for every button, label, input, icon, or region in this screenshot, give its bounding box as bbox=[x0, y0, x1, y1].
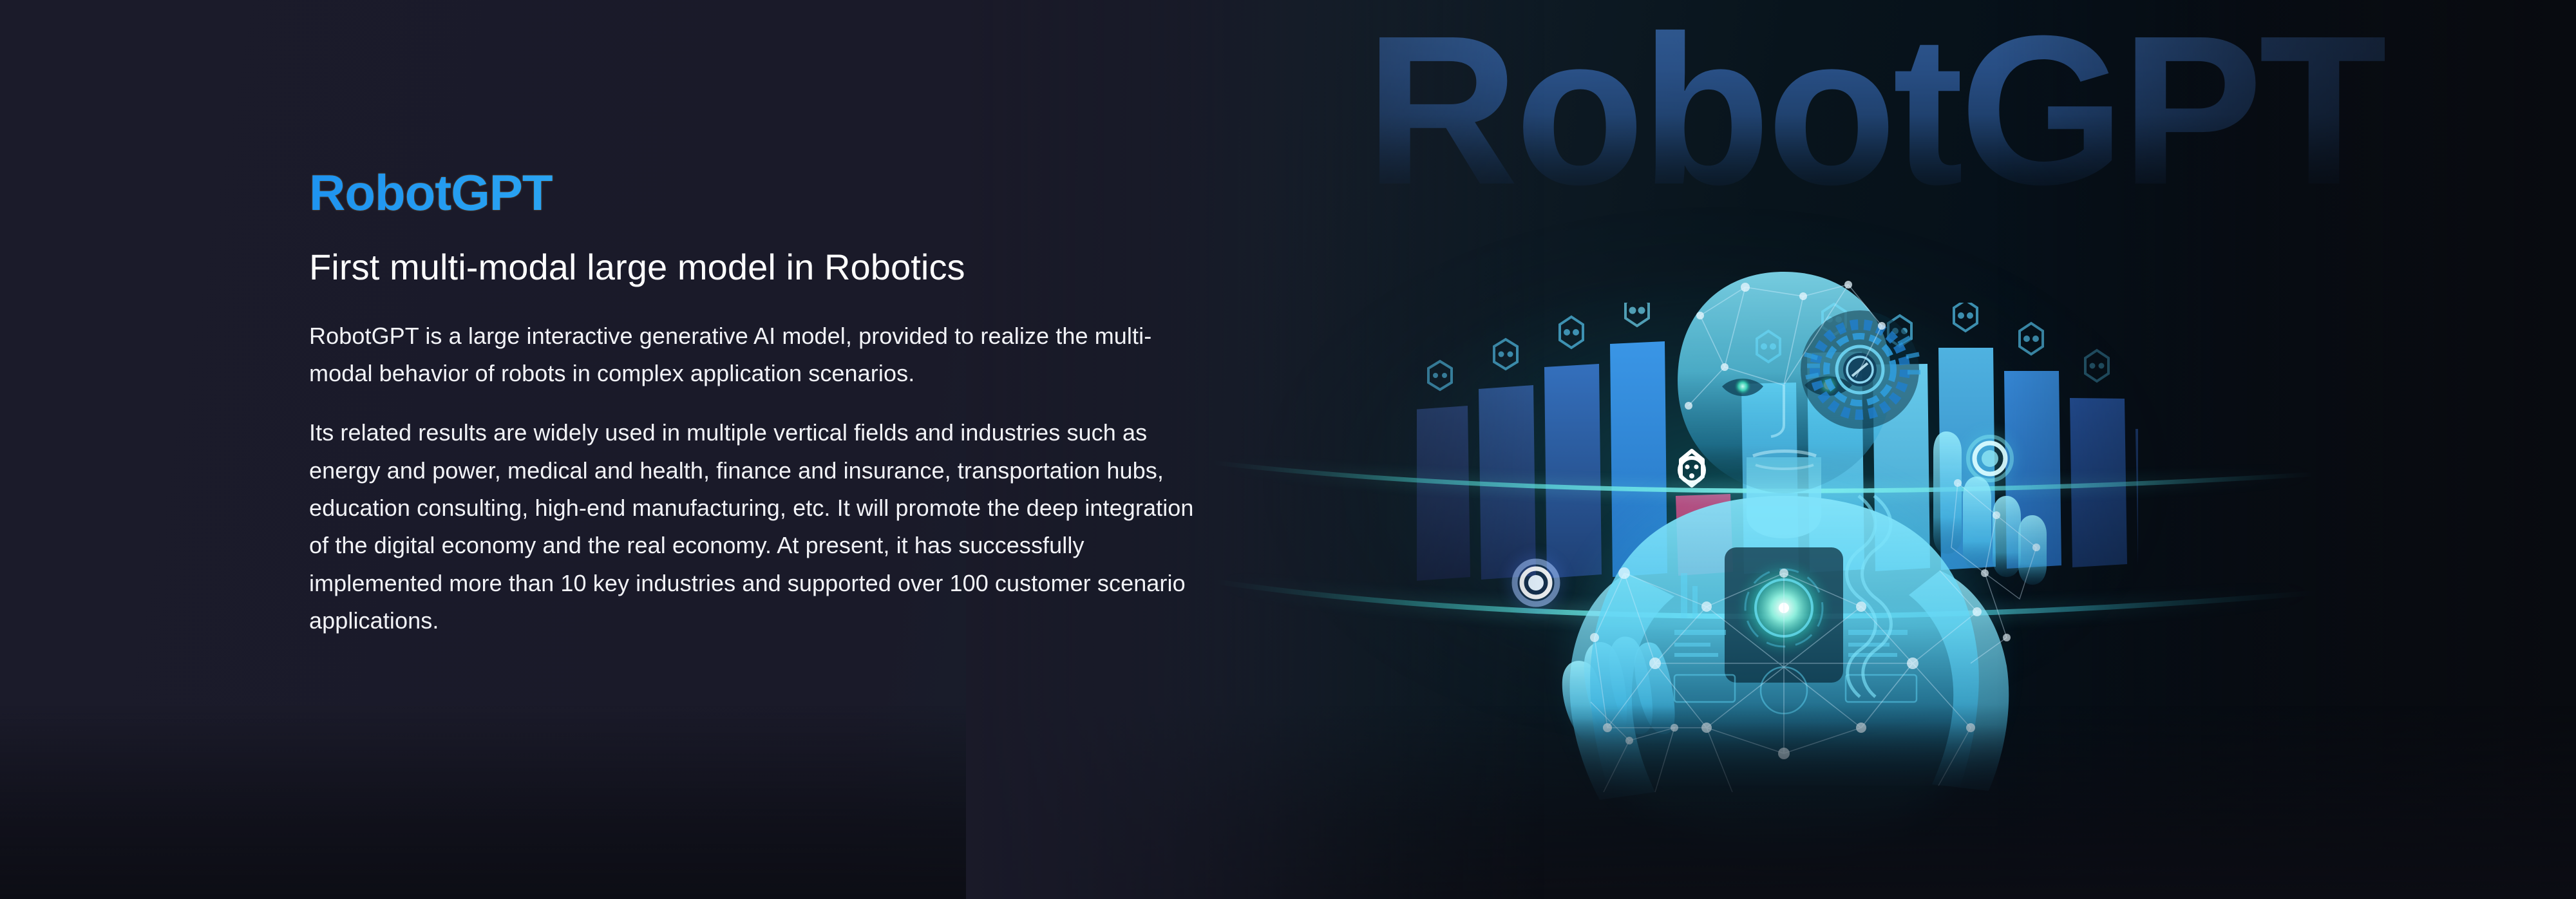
description-paragraph-2: Its related results are widely used in m… bbox=[309, 414, 1207, 639]
page-title: RobotGPT bbox=[309, 167, 1224, 218]
banner-copy: RobotGPT First multi-modal large model i… bbox=[309, 167, 1224, 639]
page-subtitle: First multi-modal large model in Robotic… bbox=[309, 247, 1224, 288]
banner-stage: RobotGPT bbox=[0, 0, 2576, 899]
description-paragraph-1: RobotGPT is a large interactive generati… bbox=[309, 317, 1207, 393]
